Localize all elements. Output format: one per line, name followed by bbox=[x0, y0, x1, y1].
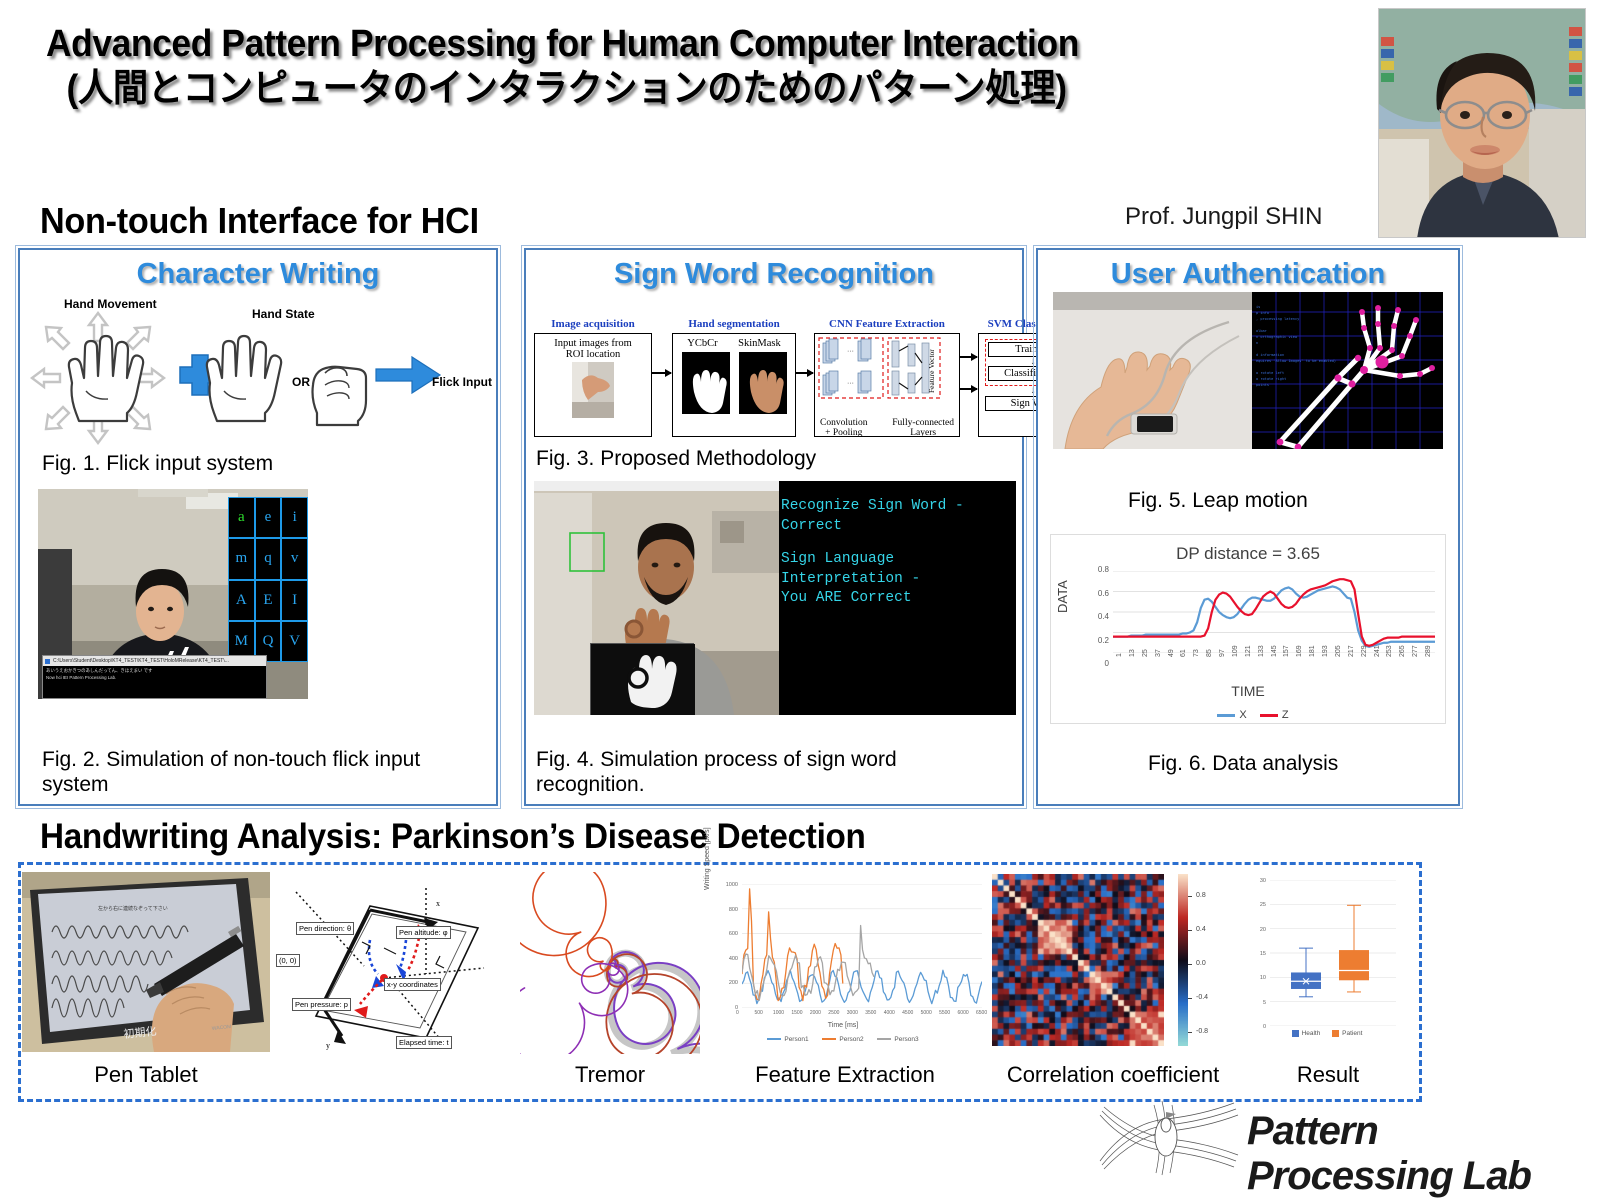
pen-parameters-diagram: x y Pen direction: θ Pe bbox=[278, 870, 490, 1055]
stage-line: Layers bbox=[892, 428, 954, 438]
xtick: 145 bbox=[1271, 645, 1278, 657]
legend-swatch-x bbox=[1217, 714, 1235, 717]
chart-yticks: 0.80.60.40.20 bbox=[1081, 565, 1109, 659]
svg-text:o rotate left: o rotate left bbox=[1256, 371, 1284, 375]
xtick: 25 bbox=[1142, 649, 1149, 657]
xtick: 217 bbox=[1348, 645, 1355, 657]
chart-ylabel: DATA bbox=[1055, 580, 1070, 613]
stage-line: SkinMask bbox=[738, 338, 781, 349]
fe-xtick: 3500 bbox=[865, 1010, 876, 1016]
stage-line: + Pooling bbox=[820, 428, 868, 438]
stage-line: Fully-connected bbox=[892, 418, 954, 428]
lab-logo: Pattern Processing Lab bbox=[1092, 1095, 1584, 1181]
ytick: 0.6 bbox=[1098, 589, 1109, 598]
colorbar-tick: 0.0 bbox=[1196, 960, 1206, 967]
label-elapsed-time: Elapsed time: t bbox=[396, 1036, 452, 1049]
boxplot-ytick: 30 bbox=[1260, 878, 1266, 884]
fig6-data-analysis-chart: DP distance = 3.65 DATA 0.80.60.40.20 11… bbox=[1050, 534, 1446, 724]
terminal-line-2: Now hci IEI Pattern Processing Lab. bbox=[46, 675, 263, 682]
fe-xtick: 5000 bbox=[921, 1010, 932, 1016]
fe-ytick: 400 bbox=[729, 956, 738, 962]
xtick: 49 bbox=[1168, 649, 1175, 657]
fe-xlabel: Time [ms] bbox=[702, 1022, 984, 1029]
legend-label-person2: Person2 bbox=[839, 1036, 863, 1043]
label-flick-input: Flick Input bbox=[432, 375, 492, 389]
boxplot-svg bbox=[1270, 880, 1396, 1026]
xtick: 205 bbox=[1335, 645, 1342, 657]
svg-text:Feature Vector: Feature Vector bbox=[927, 349, 936, 393]
legend-swatch-health bbox=[1292, 1030, 1299, 1037]
section-heading-nontouch: Non-touch Interface for HCI bbox=[40, 200, 479, 242]
legend-label-health: Health bbox=[1302, 1030, 1321, 1037]
lab-logo-text: Pattern Processing Lab bbox=[1247, 1109, 1584, 1199]
section-heading-handwriting: Handwriting Analysis: Parkinson’s Diseas… bbox=[40, 817, 866, 857]
skin-mask-binary-icon bbox=[682, 352, 730, 414]
pk-caption-result: Result bbox=[1248, 1062, 1408, 1088]
label-xy-coordinates: x-y coordinates bbox=[384, 978, 441, 991]
fig5-leap-motion-photo: isp info, processing latency olbarn orth… bbox=[1053, 292, 1443, 449]
fig6-caption: Fig. 6. Data analysis bbox=[1148, 752, 1338, 777]
svg-text:···: ··· bbox=[847, 348, 854, 355]
xtick: 121 bbox=[1245, 645, 1252, 657]
colorbar-tick: -0.4 bbox=[1196, 994, 1208, 1001]
xtick: 169 bbox=[1296, 645, 1303, 657]
terminal-line-1: あいうえおかきつのあしんだってん、きほえまい です bbox=[46, 668, 263, 675]
legend-label-patient: Patient bbox=[1342, 1030, 1362, 1037]
terminal-titlebar: C:\Users\Student\Desktop\KT4_TEST\KT4_TE… bbox=[43, 656, 266, 666]
fig2-caption: Fig. 2. Simulation of non-touch flick in… bbox=[42, 748, 462, 798]
hand-over-leap-image bbox=[1053, 292, 1252, 449]
svg-text:n orthographic view: n orthographic view bbox=[1256, 335, 1298, 339]
xtick: 241 bbox=[1374, 645, 1381, 657]
correlation-matrix-canvas bbox=[992, 874, 1164, 1046]
skin-segment-icon bbox=[739, 352, 787, 414]
svg-text:p info: p info bbox=[1256, 311, 1269, 315]
legend-label-x: X bbox=[1239, 709, 1246, 721]
label-hand-state: Hand State bbox=[252, 307, 315, 321]
fig2-simulation-photo: adidas a e i m q v A E I M Q V C:\Users\… bbox=[38, 489, 308, 699]
legend-label-z: Z bbox=[1282, 709, 1289, 721]
console-line-2: Correct bbox=[781, 517, 1006, 537]
ytick: 0.2 bbox=[1098, 636, 1109, 645]
fe-xtick: 3000 bbox=[847, 1010, 858, 1016]
console-line-4: You ARE Correct bbox=[781, 589, 1006, 609]
xtick: 157 bbox=[1283, 645, 1290, 657]
xtick: 61 bbox=[1180, 649, 1187, 657]
fe-ytick: 1000 bbox=[726, 882, 738, 888]
colorbar-tick: -0.8 bbox=[1196, 1028, 1208, 1035]
console-line-1: Recognize Sign Word - bbox=[781, 497, 1006, 517]
professor-photo bbox=[1378, 8, 1586, 238]
colorbar-tickmark bbox=[1188, 998, 1192, 999]
label-pen-pressure: Pen pressure: p bbox=[292, 998, 351, 1011]
label-origin: (0, 0) bbox=[276, 954, 300, 967]
fig4-hand-inset bbox=[590, 643, 694, 715]
spiral-tremor-svg bbox=[520, 872, 700, 1054]
pk-caption-pen-tablet: Pen Tablet bbox=[22, 1062, 270, 1088]
fe-xtick: 0 bbox=[736, 1010, 739, 1016]
label-pen-altitude: Pen altitude: φ bbox=[396, 926, 451, 939]
pipeline-stage-hand-segmentation: Hand segmentation YCbCr SkinMask bbox=[672, 318, 796, 437]
grid-letter: e bbox=[255, 497, 282, 538]
handwriting-tablet-image: 左から右に連続なぞって下さい 初期化 WACOM bbox=[22, 872, 270, 1052]
chart-legend: X Z bbox=[1051, 709, 1445, 721]
xtick: 85 bbox=[1206, 649, 1213, 657]
xtick: 181 bbox=[1309, 645, 1316, 657]
hand-skeleton-icon: isp info, processing latency olbarn orth… bbox=[1252, 292, 1443, 449]
fe-xtick: 500 bbox=[754, 1010, 762, 1016]
svg-text:o rotate right: o rotate right bbox=[1256, 377, 1286, 381]
xtick: 193 bbox=[1322, 645, 1329, 657]
colorbar-tickmark bbox=[1188, 964, 1192, 965]
boxplot-ytick: 15 bbox=[1260, 951, 1266, 957]
chart-xlabel: TIME bbox=[1051, 683, 1445, 699]
writing-speed-lines bbox=[742, 884, 982, 1008]
fe-xtick: 2500 bbox=[828, 1010, 839, 1016]
dp-distance-lines bbox=[1113, 571, 1435, 653]
svg-text:n: n bbox=[1256, 341, 1258, 345]
pipeline-arrow-icon bbox=[652, 372, 671, 374]
fe-ylabel: Writing Speed [px/s] bbox=[704, 827, 711, 890]
boxplot-ytick: 10 bbox=[1260, 975, 1266, 981]
stage-line: Convolution bbox=[820, 418, 868, 428]
flick-arrow-icon bbox=[376, 357, 440, 393]
svg-text:is: is bbox=[1256, 305, 1260, 309]
boxplot-yticks: 302520151050 bbox=[1244, 880, 1266, 1022]
colorbar-ticks: 0.80.40.0-0.4-0.8 bbox=[1192, 872, 1232, 1048]
ytick: 0.4 bbox=[1098, 612, 1109, 621]
stage-header: Hand segmentation bbox=[672, 318, 796, 330]
label-pen-direction: Pen direction: θ bbox=[296, 922, 354, 935]
xtick: 133 bbox=[1258, 645, 1265, 657]
fig2-terminal-window: C:\Users\Student\Desktop\KT4_TEST\KT4_TE… bbox=[42, 655, 267, 699]
chart-title-dp-distance: DP distance = 3.65 bbox=[1051, 544, 1445, 564]
stage-header: CNN Feature Extraction bbox=[814, 318, 960, 330]
xtick: 37 bbox=[1155, 649, 1162, 657]
correlation-heatmap: 0.80.40.0-0.4-0.8 bbox=[992, 872, 1234, 1054]
svg-text:, processing latency: , processing latency bbox=[1256, 317, 1300, 321]
fe-ytick: 800 bbox=[729, 907, 738, 913]
stage-line: Input images from bbox=[539, 338, 647, 349]
xtick: 265 bbox=[1399, 645, 1406, 657]
svg-text:左から右に連続なぞって下さい: 左から右に連続なぞって下さい bbox=[98, 905, 168, 912]
poster-title-en: Advanced Pattern Processing for Human Co… bbox=[46, 23, 1079, 65]
boxplot-ytick: 5 bbox=[1263, 1000, 1266, 1006]
stage-line: ROI location bbox=[539, 349, 647, 360]
svg-text:equires 'Allow Images' to be e: equires 'Allow Images' to be enabled) bbox=[1256, 359, 1336, 363]
xtick: 253 bbox=[1386, 645, 1393, 657]
hand-roi-thumbnail bbox=[572, 362, 614, 418]
pen-parameter-schematic-svg: x y bbox=[278, 870, 490, 1055]
professor-portrait-image bbox=[1379, 9, 1586, 238]
heatmap-colorbar bbox=[1178, 874, 1188, 1046]
legend-swatch-patient bbox=[1332, 1030, 1339, 1037]
fe-xtick: 1500 bbox=[791, 1010, 802, 1016]
console-line-3: Sign Language Interpretation - bbox=[781, 550, 1006, 589]
poster-title: Advanced Pattern Processing for Human Co… bbox=[46, 22, 1246, 112]
axis-y-label: y bbox=[326, 1041, 330, 1050]
boxplot-ytick: 25 bbox=[1260, 902, 1266, 908]
flick-letter-grid: a e i m q v A E I M Q V bbox=[228, 497, 308, 662]
fe-xtick: 6000 bbox=[958, 1010, 969, 1016]
pk-caption-correlation: Correlation coefficient bbox=[980, 1062, 1246, 1088]
legend-swatch-z bbox=[1260, 714, 1278, 717]
axis-x-label: x bbox=[436, 899, 440, 908]
pk-caption-tremor: Tremor bbox=[500, 1062, 720, 1088]
grid-letter: i bbox=[281, 497, 308, 538]
xtick: 289 bbox=[1425, 645, 1432, 657]
svg-text:olbar: olbar bbox=[1256, 329, 1268, 333]
fig1-caption: Fig. 1. Flick input system bbox=[42, 452, 273, 477]
panel-title-sign-word: Sign Word Recognition bbox=[526, 258, 1022, 291]
fe-xtick: 1000 bbox=[773, 1010, 784, 1016]
fe-ytick: 600 bbox=[729, 931, 738, 937]
boxplot-ytick: 20 bbox=[1260, 927, 1266, 933]
chart-plot-area bbox=[1113, 571, 1435, 653]
colorbar-tick: 0.4 bbox=[1196, 926, 1206, 933]
cnn-architecture-icon: ··· ··· Feature Vector bbox=[818, 337, 956, 413]
xtick: 229 bbox=[1361, 645, 1368, 657]
tremor-spiral-chart bbox=[520, 872, 700, 1054]
pk-caption-feature-extraction: Feature Extraction bbox=[700, 1062, 990, 1088]
pipeline-arrow-icon bbox=[960, 356, 977, 358]
colorbar-tickmark bbox=[1188, 896, 1192, 897]
grid-letter: v bbox=[281, 538, 308, 579]
ytick: 0.8 bbox=[1098, 565, 1109, 574]
fe-xtick: 4000 bbox=[884, 1010, 895, 1016]
fe-yticks: 10008006004002000 bbox=[712, 882, 738, 1006]
chart-xticks: 1132537496173859710912113314515716918119… bbox=[1113, 657, 1439, 685]
fig5-caption: Fig. 5. Leap motion bbox=[1128, 489, 1308, 514]
fig3-methodology-diagram: Image acquisition Input images from ROI … bbox=[534, 300, 1018, 440]
pen-tablet-photo: 左から右に連続なぞって下さい 初期化 WACOM bbox=[22, 872, 270, 1052]
pipeline-arrow-icon bbox=[796, 372, 813, 374]
ytick: 0 bbox=[1105, 659, 1109, 668]
fist-hand-icon bbox=[313, 367, 367, 425]
bird-logo-icon bbox=[1092, 1095, 1242, 1181]
terminal-body: あいうえおかきつのあしんだってん、きほえまい です Now hci IEI Pa… bbox=[43, 666, 266, 683]
fig4-console-text: Recognize Sign Word - Correct Sign Langu… bbox=[781, 497, 1006, 609]
open-hand-state-icon bbox=[207, 336, 281, 421]
svg-text:···: ··· bbox=[847, 380, 854, 387]
svg-text:points: points bbox=[1256, 383, 1269, 387]
feature-extraction-chart: Writing Speed [px/s] 10008006004002000 0… bbox=[702, 876, 984, 1054]
grid-letter: m bbox=[228, 538, 255, 579]
xtick: 1 bbox=[1116, 653, 1123, 657]
ok-gesture-inset-icon bbox=[591, 644, 695, 715]
professor-name: Prof. Jungpil SHIN bbox=[1125, 203, 1322, 231]
pipeline-stage-image-acquisition: Image acquisition Input images from ROI … bbox=[534, 318, 652, 437]
xtick: 13 bbox=[1129, 649, 1136, 657]
leap-motion-skeleton-view: isp info, processing latency olbarn orth… bbox=[1252, 292, 1443, 449]
result-boxplot-chart: 302520151050 Health Patient bbox=[1244, 876, 1410, 1054]
fe-legend: Person1 Person2 Person3 bbox=[702, 1036, 984, 1043]
grid-letter: V bbox=[281, 621, 308, 662]
svg-text:d information: d information bbox=[1256, 353, 1284, 357]
boxplot-ytick: 0 bbox=[1263, 1024, 1266, 1030]
legend-label-person3: Person3 bbox=[894, 1036, 918, 1043]
stage-header: Image acquisition bbox=[534, 318, 652, 330]
stage-line: YCbCr bbox=[687, 338, 717, 349]
grid-letter: A bbox=[228, 580, 255, 621]
leap-motion-device-photo bbox=[1053, 292, 1252, 449]
label-or: OR bbox=[292, 375, 310, 389]
legend-label-person1: Person1 bbox=[784, 1036, 808, 1043]
colorbar-tickmark bbox=[1188, 1032, 1192, 1033]
fe-xtick: 4500 bbox=[902, 1010, 913, 1016]
panel-title-user-auth: User Authentication bbox=[1038, 258, 1458, 291]
panel-title-character-writing: Character Writing bbox=[20, 258, 496, 291]
xtick: 97 bbox=[1219, 649, 1226, 657]
fig1-flick-input-diagram: Hand Movement Hand State OR Flick Input bbox=[24, 295, 492, 450]
fe-xtick: 5500 bbox=[939, 1010, 950, 1016]
legend-swatch-person2 bbox=[822, 1038, 836, 1040]
legend-swatch-person3 bbox=[877, 1038, 891, 1040]
fig4-caption: Fig. 4. Simulation process of sign word … bbox=[536, 748, 1006, 798]
xtick: 73 bbox=[1193, 649, 1200, 657]
xtick: 277 bbox=[1412, 645, 1419, 657]
label-hand-movement: Hand Movement bbox=[64, 297, 157, 311]
legend-swatch-person1 bbox=[767, 1038, 781, 1040]
fig4-sign-word-simulation: SANTA MONICA WAVES Recognize Sign Word -… bbox=[534, 481, 1016, 715]
xtick: 109 bbox=[1232, 645, 1239, 657]
fe-ytick: 200 bbox=[729, 980, 738, 986]
colorbar-tick: 0.8 bbox=[1196, 892, 1206, 899]
colorbar-tickmark bbox=[1188, 930, 1192, 931]
pipeline-arrow-icon bbox=[960, 388, 977, 390]
poster-title-ja: (人間とコンピュータのインタラクションのためのパターン処理) bbox=[46, 67, 1246, 112]
boxplot-legend: Health Patient bbox=[1244, 1030, 1410, 1037]
pipeline-stage-cnn-feature-extraction: CNN Feature Extraction ··· ··· bbox=[814, 318, 960, 437]
grid-letter: a bbox=[228, 497, 255, 538]
fig3-caption: Fig. 3. Proposed Methodology bbox=[536, 447, 816, 472]
fe-xticks: 0500100015002000250030003500400045005000… bbox=[742, 1010, 982, 1022]
fe-xtick: 2000 bbox=[810, 1010, 821, 1016]
grid-letter: I bbox=[281, 580, 308, 621]
fe-xtick: 6500 bbox=[976, 1010, 987, 1016]
grid-letter: q bbox=[255, 538, 282, 579]
grid-letter: E bbox=[255, 580, 282, 621]
